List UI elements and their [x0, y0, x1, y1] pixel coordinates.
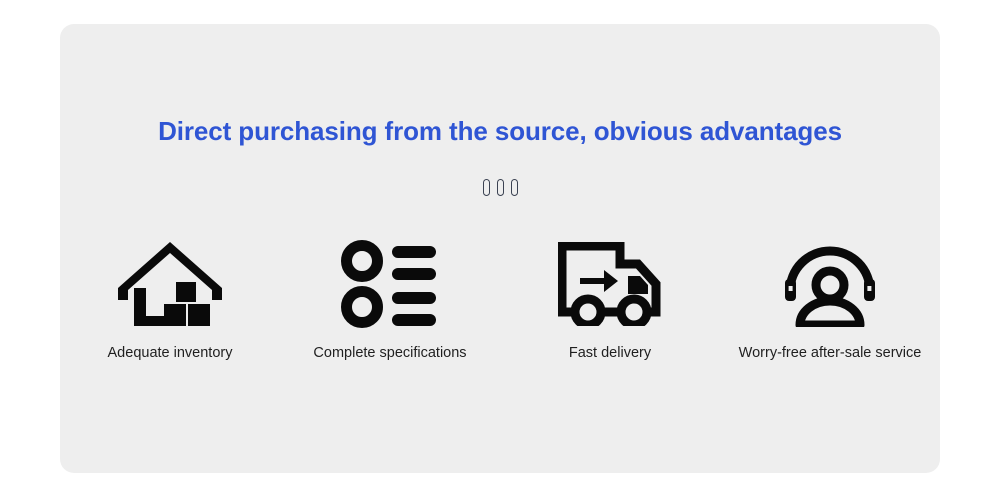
specification-list-icon [340, 229, 440, 339]
feature-label: Worry-free after-sale service [739, 345, 922, 361]
headset-support-agent-icon [780, 229, 880, 339]
feature-item: Fast delivery [500, 229, 720, 361]
feature-list: Adequate inventory Complete specificatio… [60, 229, 940, 361]
feature-label: Fast delivery [569, 345, 651, 361]
three-pill-divider [60, 179, 940, 196]
feature-item: Worry-free after-sale service [720, 229, 940, 361]
divider-pill-1 [483, 179, 490, 196]
delivery-truck-icon [558, 229, 662, 339]
feature-label: Complete specifications [313, 345, 466, 361]
divider-pill-3 [511, 179, 518, 196]
advantages-card: Direct purchasing from the source, obvio… [60, 24, 940, 473]
feature-label: Adequate inventory [108, 345, 233, 361]
warehouse-house-icon [114, 229, 226, 339]
divider-pill-2 [497, 179, 504, 196]
feature-item: Adequate inventory [60, 229, 280, 361]
page-title: Direct purchasing from the source, obvio… [60, 116, 940, 147]
feature-item: Complete specifications [280, 229, 500, 361]
page-root: Direct purchasing from the source, obvio… [0, 0, 1000, 499]
